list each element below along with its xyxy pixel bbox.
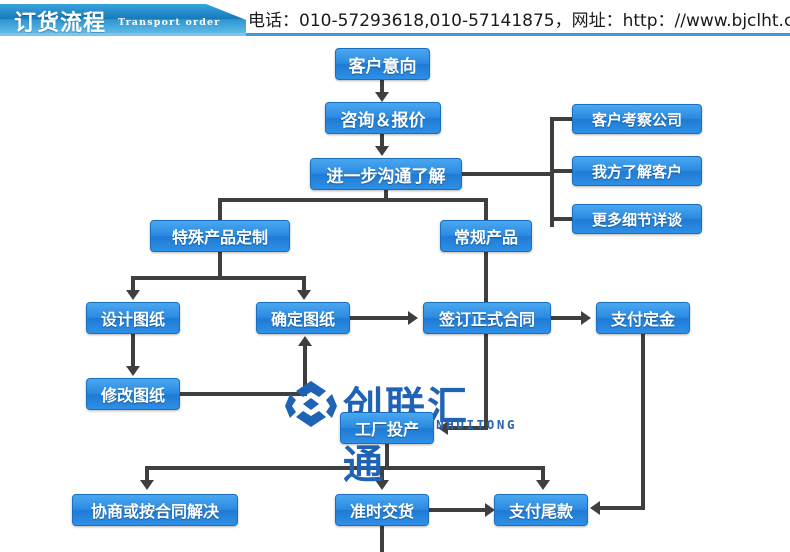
- arrowhead-right-pay-deposit: [581, 311, 591, 325]
- arrowhead-down-design-drawing: [126, 290, 140, 300]
- flow-node-consult-quote[interactable]: 咨询＆报价: [325, 102, 441, 134]
- flow-node-design-drawing[interactable]: 设计图纸: [86, 302, 180, 334]
- flow-node-sign-contract[interactable]: 签订正式合同: [423, 302, 551, 334]
- connector-delivery-down-cutoff: [380, 526, 384, 552]
- flow-node-factory-production[interactable]: 工厂投产: [340, 412, 434, 444]
- arrowhead-down-modify-drawing: [126, 366, 140, 376]
- header-rule: [246, 33, 790, 36]
- flow-node-negotiate-or-contract[interactable]: 协商或按合同解决: [72, 494, 238, 526]
- arrowhead-down-quote: [375, 92, 389, 102]
- arrowhead-down-negotiate: [140, 480, 154, 490]
- flow-node-confirm-drawing[interactable]: 确定图纸: [256, 302, 350, 334]
- flow-node-modify-drawing[interactable]: 修改图纸: [86, 378, 180, 410]
- flow-node-pay-balance[interactable]: 支付尾款: [494, 494, 588, 526]
- connector-to-we-know-customer: [550, 169, 574, 173]
- flow-node-standard-product[interactable]: 常规产品: [440, 220, 532, 252]
- contact-info: 电话：010-57293618,010-57141875，网址：http：//w…: [248, 6, 790, 31]
- connector-confirm-to-contract: [350, 316, 408, 320]
- arrowhead-left-pay-balance-loop: [590, 501, 600, 515]
- connector-to-more-details: [550, 217, 574, 221]
- header-rule-left: [0, 33, 246, 36]
- connector-deposit-loop-h: [600, 506, 645, 510]
- connector-delivery-to-balance: [429, 508, 485, 512]
- connector-standard-to-contract: [484, 252, 488, 302]
- connector-split-bus-top: [218, 198, 488, 202]
- flow-node-on-time-delivery[interactable]: 准时交货: [335, 494, 429, 526]
- order-process-flowchart: 创联汇通 CHUANGLIANHUITONG 客户意向咨询＆报价进一步沟通了解客…: [0, 40, 790, 552]
- flow-node-we-know-customer[interactable]: 我方了解客户: [572, 156, 702, 186]
- connector-communication-right: [462, 172, 554, 176]
- arrowhead-right-sign-contract: [408, 311, 418, 325]
- connector-contract-to-deposit: [551, 316, 581, 320]
- flow-node-pay-deposit[interactable]: 支付定金: [596, 302, 690, 334]
- connector-to-standard-product: [484, 198, 488, 220]
- flow-node-more-details[interactable]: 更多细节详谈: [572, 204, 702, 234]
- connector-drawing-split-bus: [131, 276, 306, 280]
- connector-deposit-down: [641, 334, 645, 510]
- flow-node-custom-product[interactable]: 特殊产品定制: [150, 220, 290, 252]
- arrowhead-down-communication: [375, 146, 389, 156]
- chuanglianhuitong-logo-icon: [285, 380, 337, 428]
- arrowhead-up-confirm-drawing: [298, 336, 312, 346]
- flow-node-further-communication[interactable]: 进一步沟通了解: [310, 158, 462, 190]
- connector-design-to-modify: [131, 334, 135, 366]
- arrowhead-down-confirm-drawing: [297, 290, 311, 300]
- flow-node-customer-intent[interactable]: 客户意向: [335, 48, 430, 80]
- connector-to-customer-visit: [550, 117, 574, 121]
- page-header: 订货流程 Transport order 电话：010-57293618,010…: [0, 0, 790, 40]
- connector-to-custom-product: [218, 198, 222, 220]
- flow-node-customer-visit[interactable]: 客户考察公司: [572, 104, 702, 134]
- arrowhead-down-pay-balance: [536, 480, 550, 490]
- page-subtitle: Transport order: [118, 17, 221, 28]
